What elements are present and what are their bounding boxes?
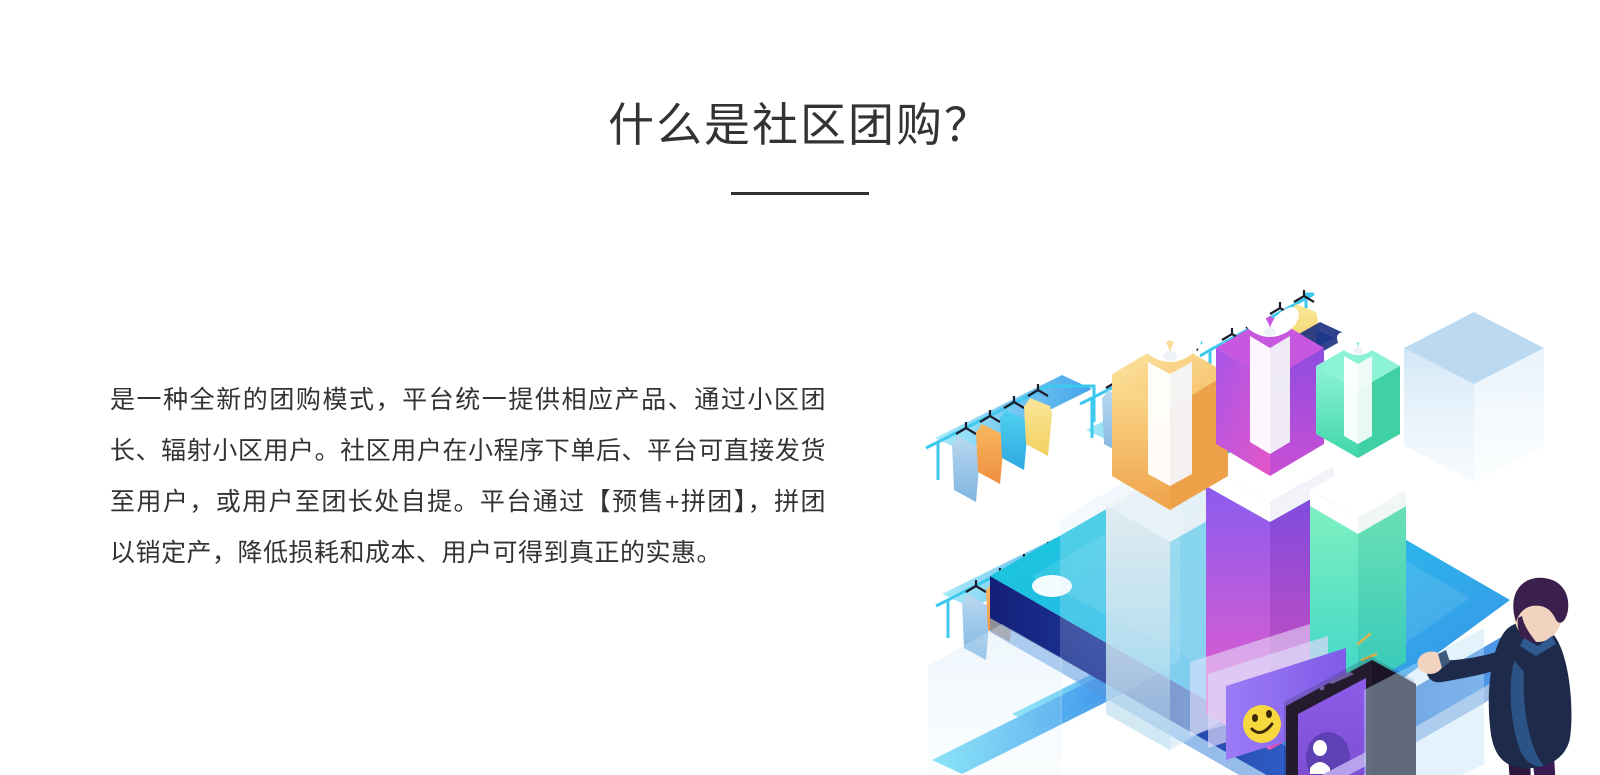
emoji-smiley-icon [1243, 705, 1281, 743]
title-divider [731, 192, 869, 195]
page-title: 什么是社区团购？ [0, 96, 1600, 154]
phone-camera-icon [1320, 686, 1325, 691]
body-paragraph-text: 是一种全新的团购模式，平台统一提供相应产品、通过小区团长、辐射小区用户。社区用户… [110, 375, 826, 579]
isometric-illustration [880, 190, 1600, 775]
body-paragraph: 是一种全新的团购模式，平台统一提供相应产品、通过小区团长、辐射小区用户。社区用户… [110, 375, 826, 579]
heading-block: 什么是社区团购？ [0, 96, 1600, 195]
gift-box-green [1316, 332, 1400, 458]
page-root: 什么是社区团购？ 是一种全新的团购模式，平台统一提供相应产品、通过小区团长、辐射… [0, 0, 1600, 775]
glass-panel [928, 624, 1062, 775]
phone-speaker-icon [1440, 540, 1476, 562]
glass-box-icon [1404, 312, 1544, 482]
